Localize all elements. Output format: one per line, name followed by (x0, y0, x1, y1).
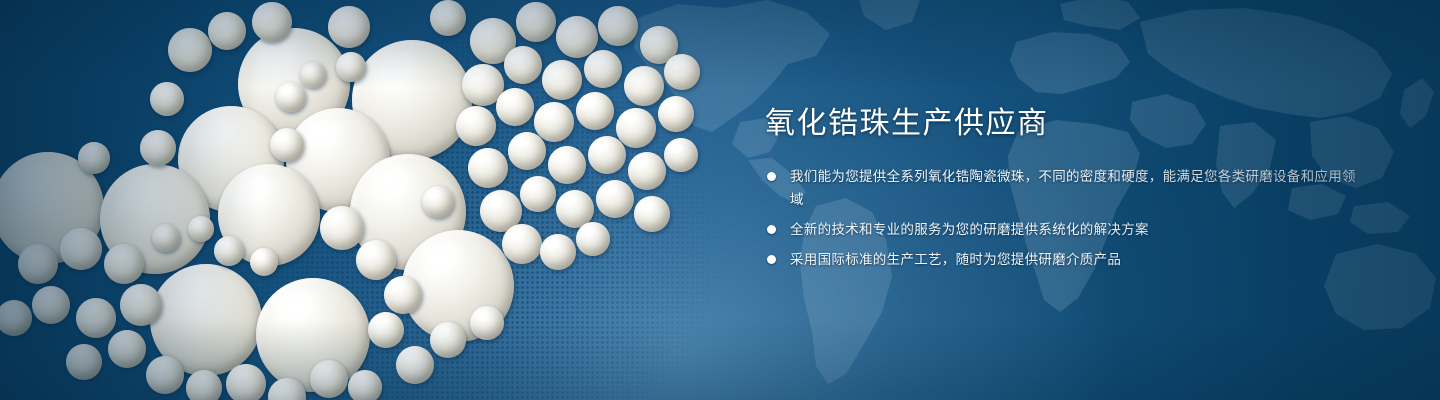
hero-banner: 氧化锆珠生产供应商 我们能为您提供全系列氧化锆陶瓷微珠，不同的密度和硬度，能满足… (0, 0, 1440, 400)
edge-vignette (0, 0, 1440, 400)
